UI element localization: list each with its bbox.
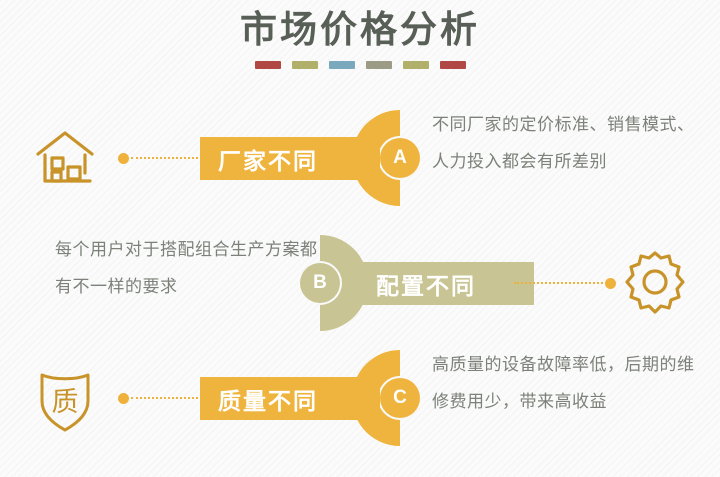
paragraph-a: 不同厂家的定价标准、销售模式、人力投入都会有所差别 [432,106,700,180]
badge-b: B [300,263,340,303]
label-bar-b: 配置不同 [358,262,534,305]
connector-c [118,393,204,403]
svg-text:质: 质 [52,387,79,417]
dash-gray [366,61,392,69]
label-a-text: 厂家不同 [218,142,318,176]
badge-c-label: C [393,387,407,409]
dash-blue [329,61,355,69]
row-c: 质 C 质量不同 高质量的设备故障率低，后期的维修费用少，带来高收益 [0,338,720,458]
badge-b-label: B [313,272,327,294]
badge-a: A [380,138,420,178]
dash-olive-2 [403,61,429,69]
title-divider [0,61,720,69]
label-b-text: 配置不同 [376,267,476,301]
connector-dot-b [605,278,616,289]
badge-a-label: A [393,147,407,169]
connector-dot-a [118,153,129,164]
gear-icon [618,246,692,320]
factory-house-icon [28,121,102,195]
dash-olive-1 [292,61,318,69]
connector-line-b [514,282,603,284]
connector-dot-c [118,393,129,404]
shield-quality-icon: 质 [28,361,102,435]
connector-b [512,278,616,288]
badge-c: C [380,378,420,418]
row-b: 每个用户对于搭配组合生产方案都有不一样的要求 B 配置不同 [0,223,720,343]
label-bar-c: 质量不同 [200,377,380,420]
paragraph-b: 每个用户对于搭配组合生产方案都有不一样的要求 [55,231,323,305]
connector-line-c [131,397,202,399]
header: 市场价格分析 [0,8,720,69]
label-c-text: 质量不同 [218,382,318,416]
infographic-canvas: 市场价格分析 [0,0,720,477]
paragraph-c: 高质量的设备故障率低，后期的维修费用少，带来高收益 [432,346,700,420]
label-bar-a: 厂家不同 [200,137,380,180]
row-a: A 厂家不同 不同厂家的定价标准、销售模式、人力投入都会有所差别 [0,98,720,218]
dash-red-2 [440,61,466,69]
dash-red-1 [255,61,281,69]
connector-a [118,153,204,163]
connector-line-a [131,157,202,159]
page-title: 市场价格分析 [0,8,720,52]
